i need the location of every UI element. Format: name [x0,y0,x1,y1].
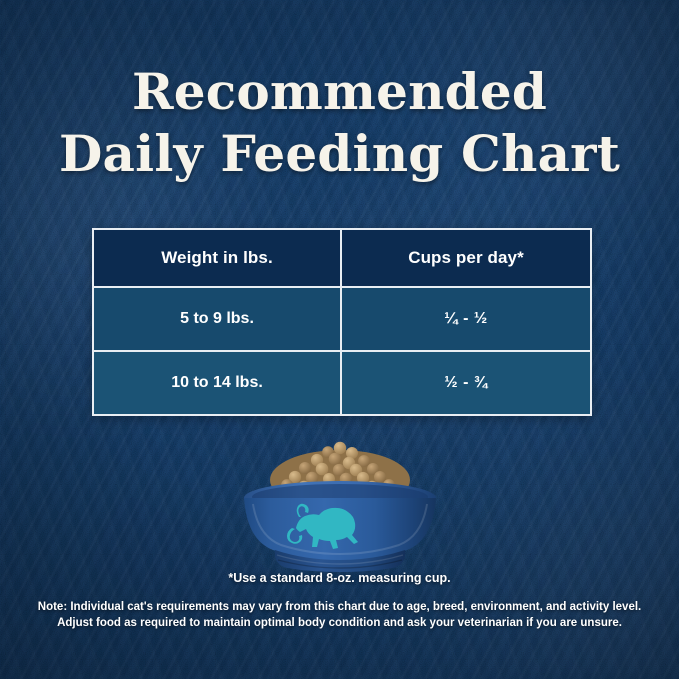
title-line-1: Recommended [0,67,679,117]
page-title: Recommended Daily Feeding Chart [0,67,679,179]
feeding-chart-page: Recommended Daily Feeding Chart Weight i… [0,0,679,679]
disclaimer-line-1: Note: Individual cat's requirements may … [34,599,645,615]
table-row: 5 to 9 lbs. ¼ - ½ [94,286,590,350]
table-row: 10 to 14 lbs. ½ - ¾ [94,350,590,414]
disclaimer-line-2: Adjust food as required to maintain opti… [34,615,645,631]
bowl-illustration [225,432,455,572]
disclaimer-note: Note: Individual cat's requirements may … [34,599,645,632]
title-line-2: Daily Feeding Chart [0,129,679,179]
column-header-weight: Weight in lbs. [94,230,342,286]
feeding-table: Weight in lbs. Cups per day* 5 to 9 lbs.… [92,228,592,416]
column-header-cups: Cups per day* [342,230,590,286]
cell-weight-row-2: 10 to 14 lbs. [94,352,342,414]
measuring-cup-footnote: *Use a standard 8-oz. measuring cup. [0,571,679,585]
cell-cups-row-1: ¼ - ½ [342,288,590,350]
table-header-row: Weight in lbs. Cups per day* [94,230,590,286]
food-bowl-image [0,432,679,572]
cell-weight-row-1: 5 to 9 lbs. [94,288,342,350]
cell-cups-row-2: ½ - ¾ [342,352,590,414]
